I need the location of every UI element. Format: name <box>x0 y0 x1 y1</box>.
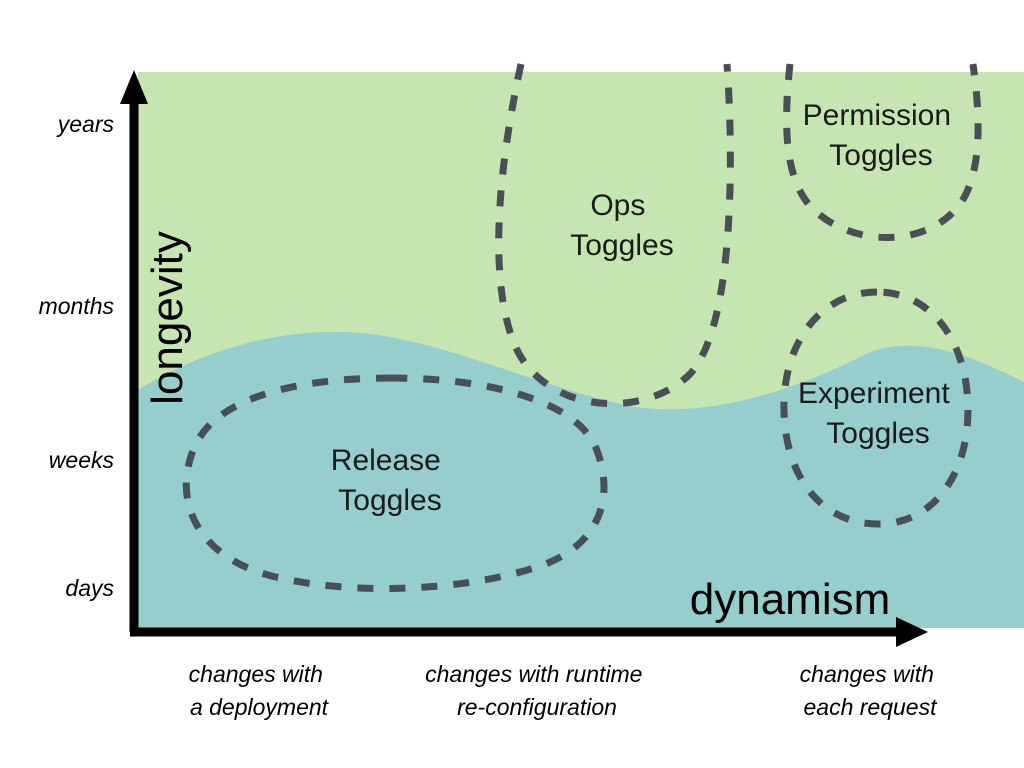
x-axis-title: dynamism <box>690 575 891 624</box>
y-tick-label-weeks: weeks <box>49 447 115 473</box>
x-tick-label-each-request: changes with each request <box>800 661 941 720</box>
x-tick-label-deployment-line2: a deployment <box>190 694 330 720</box>
y-tick-label-days: days <box>65 575 114 601</box>
x-tick-label-deployment-line1: changes with <box>189 661 323 687</box>
region-label-ops-toggles-line1: Ops <box>590 189 645 222</box>
x-tick-label-reconfiguration-line2: re-configuration <box>457 694 617 720</box>
toggle-quadrant-diagram: Release Toggles Ops Toggles Permission T… <box>0 0 1024 768</box>
y-tick-label-months: months <box>39 293 115 319</box>
region-label-experiment-toggles-line1: Experiment <box>798 377 950 410</box>
x-axis-tick-labels: changes with a deployment changes with r… <box>189 661 941 720</box>
region-label-experiment-toggles-line2: Toggles <box>826 417 929 450</box>
x-tick-label-reconfiguration: changes with runtime re-configuration <box>425 661 649 720</box>
region-label-permission-toggles-line1: Permission <box>803 99 951 132</box>
y-axis-tick-labels: years months weeks days <box>39 111 115 601</box>
x-tick-label-deployment: changes with a deployment <box>189 661 330 720</box>
x-tick-label-each-request-line2: each request <box>804 694 939 720</box>
y-tick-label-years: years <box>56 111 115 137</box>
region-label-release-toggles-line1: Release <box>331 444 441 477</box>
region-label-ops-toggles-line2: Toggles <box>570 229 673 262</box>
region-label-release-toggles-line2: Toggles <box>338 484 441 517</box>
x-tick-label-reconfiguration-line1: changes with runtime <box>425 661 642 687</box>
diagram-canvas: Release Toggles Ops Toggles Permission T… <box>0 0 1024 768</box>
x-tick-label-each-request-line1: changes with <box>800 661 934 687</box>
region-label-permission-toggles-line2: Toggles <box>829 139 932 172</box>
y-axis-title: longevity <box>143 231 192 405</box>
